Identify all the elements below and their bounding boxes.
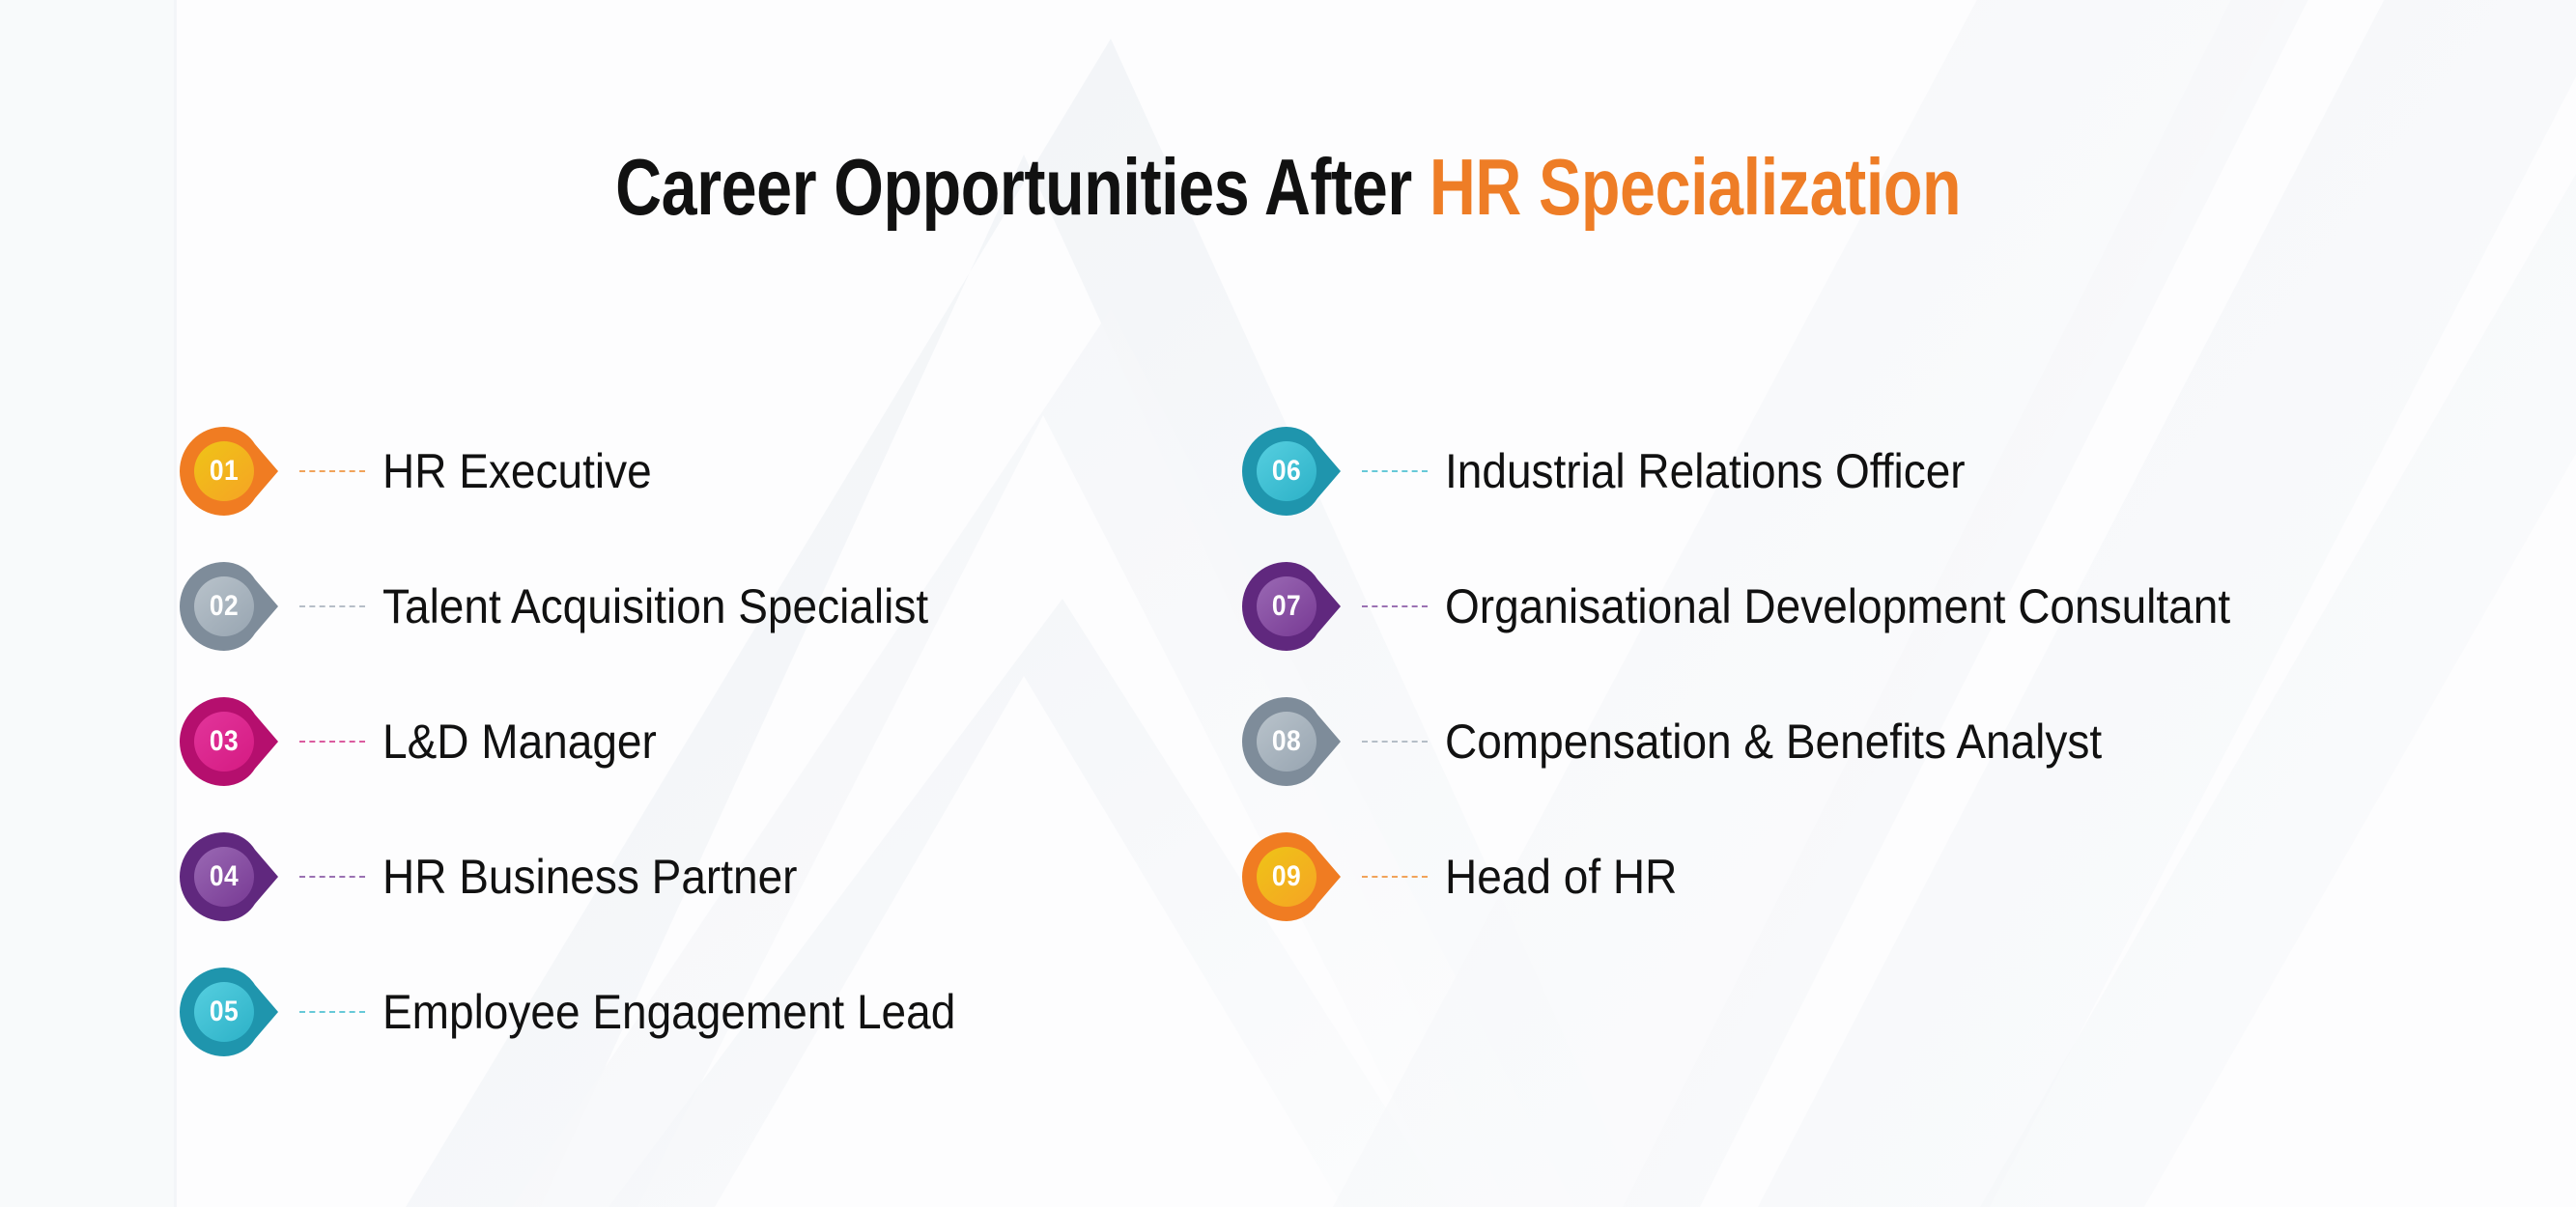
career-label: Compensation & Benefits Analyst (1445, 716, 2102, 768)
career-item[interactable]: 08Compensation & Benefits Analyst (1244, 674, 2519, 809)
career-list-left-column: 01HR Executive02Talent Acquisition Speci… (182, 404, 1244, 1080)
title-accent: HR Specialization (1430, 142, 1961, 232)
career-label: Industrial Relations Officer (1445, 446, 1966, 497)
step-marker-01[interactable]: 01 (182, 421, 282, 521)
step-marker-08[interactable]: 08 (1244, 691, 1345, 792)
step-number: 06 (1249, 421, 1323, 521)
step-number: 07 (1249, 556, 1323, 657)
career-item[interactable]: 05Employee Engagement Lead (182, 944, 1244, 1080)
infographic-canvas: Career Opportunities After HR Specializa… (0, 0, 2576, 1207)
step-number: 01 (186, 421, 261, 521)
step-marker-04[interactable]: 04 (182, 827, 282, 927)
connector-dashed-line (299, 605, 365, 607)
step-number: 04 (186, 827, 261, 927)
step-number: 03 (186, 691, 261, 792)
page-title: Career Opportunities After HR Specializa… (0, 147, 2576, 227)
career-label: Talent Acquisition Specialist (382, 581, 928, 632)
career-label: Organisational Development Consultant (1445, 581, 2230, 632)
title-text: Career Opportunities After HR Specializa… (615, 147, 1961, 227)
connector-dashed-line (1362, 470, 1428, 472)
career-item[interactable]: 01HR Executive (182, 404, 1244, 539)
step-number: 05 (186, 962, 261, 1062)
step-marker-02[interactable]: 02 (182, 556, 282, 657)
career-item[interactable]: 09Head of HR (1244, 809, 2519, 944)
step-marker-05[interactable]: 05 (182, 962, 282, 1062)
title-main: Career Opportunities After (615, 142, 1430, 232)
connector-dashed-line (1362, 876, 1428, 878)
connector-dashed-line (299, 876, 365, 878)
career-label: Employee Engagement Lead (382, 987, 955, 1038)
career-label: L&D Manager (382, 716, 657, 768)
career-label: Head of HR (1445, 852, 1677, 903)
step-number: 09 (1249, 827, 1323, 927)
career-list-right-column: 06Industrial Relations Officer07Organisa… (1244, 404, 2519, 944)
step-marker-03[interactable]: 03 (182, 691, 282, 792)
connector-dashed-line (1362, 605, 1428, 607)
career-item[interactable]: 03L&D Manager (182, 674, 1244, 809)
step-number: 02 (186, 556, 261, 657)
career-item[interactable]: 04HR Business Partner (182, 809, 1244, 944)
step-number: 08 (1249, 691, 1323, 792)
connector-dashed-line (299, 470, 365, 472)
career-label: HR Business Partner (382, 852, 798, 903)
connector-dashed-line (299, 1011, 365, 1013)
step-marker-06[interactable]: 06 (1244, 421, 1345, 521)
connector-dashed-line (1362, 741, 1428, 743)
step-marker-09[interactable]: 09 (1244, 827, 1345, 927)
career-item[interactable]: 02Talent Acquisition Specialist (182, 539, 1244, 674)
career-item[interactable]: 07Organisational Development Consultant (1244, 539, 2519, 674)
connector-dashed-line (299, 741, 365, 743)
career-item[interactable]: 06Industrial Relations Officer (1244, 404, 2519, 539)
step-marker-07[interactable]: 07 (1244, 556, 1345, 657)
career-label: HR Executive (382, 446, 652, 497)
